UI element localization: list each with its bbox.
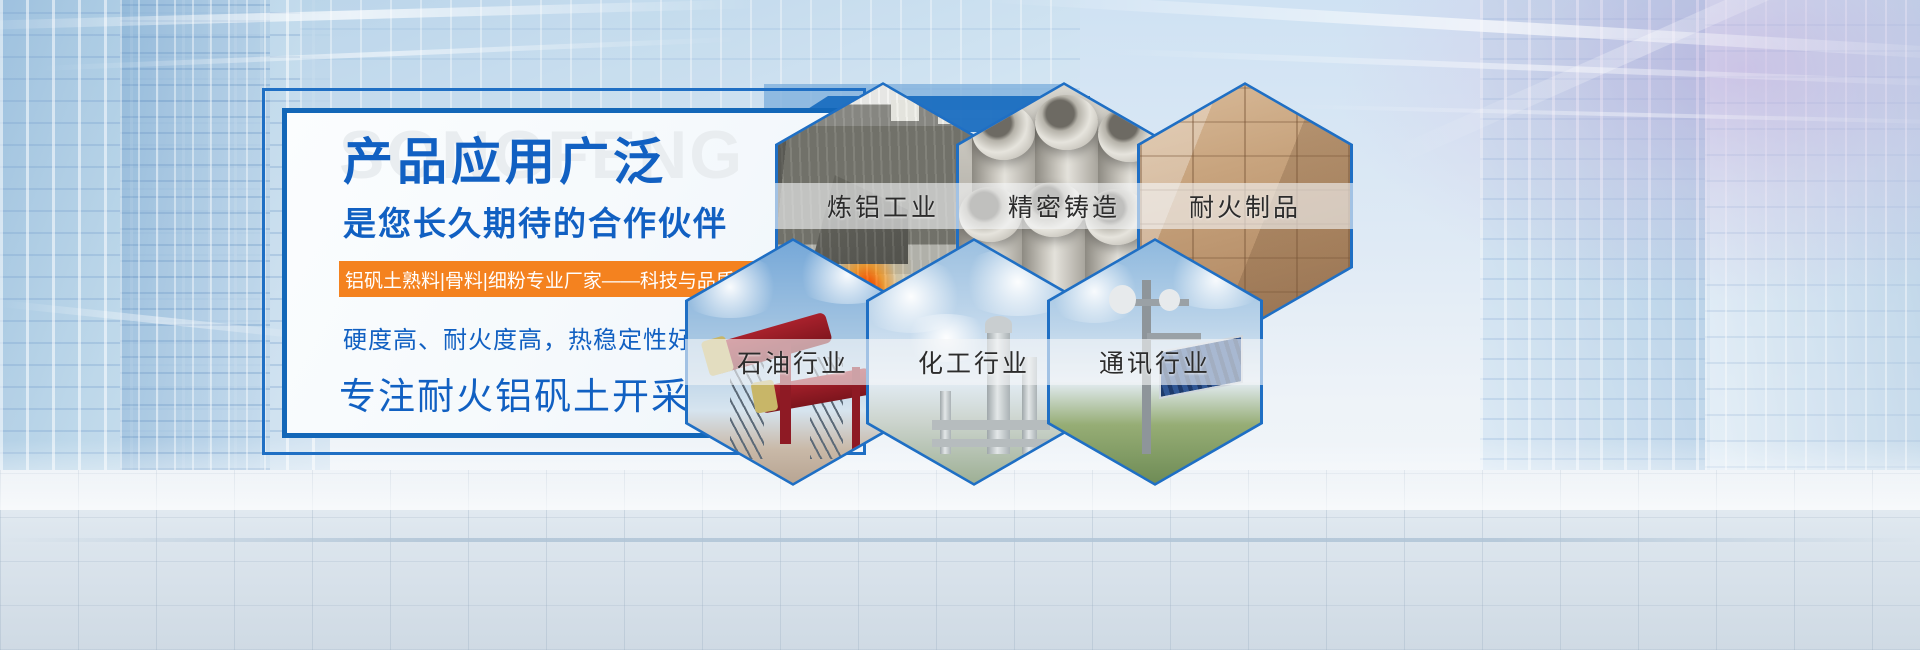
background-tower-left-inner [120, 0, 270, 470]
hex-label: 通讯行业 [1047, 339, 1263, 385]
page-title: 产品应用广泛 [343, 135, 667, 190]
promo-banner: SONGFENG 产品应用广泛 是您长久期待的合作伙伴 铝矾土熟料|骨料|细粉专… [0, 0, 1920, 650]
application-hexagon-grid: 炼铝工业 精密铸造 耐火制 [660, 82, 1360, 502]
hex-label: 耐火制品 [1137, 183, 1353, 229]
background-kerb-line [0, 538, 1920, 542]
